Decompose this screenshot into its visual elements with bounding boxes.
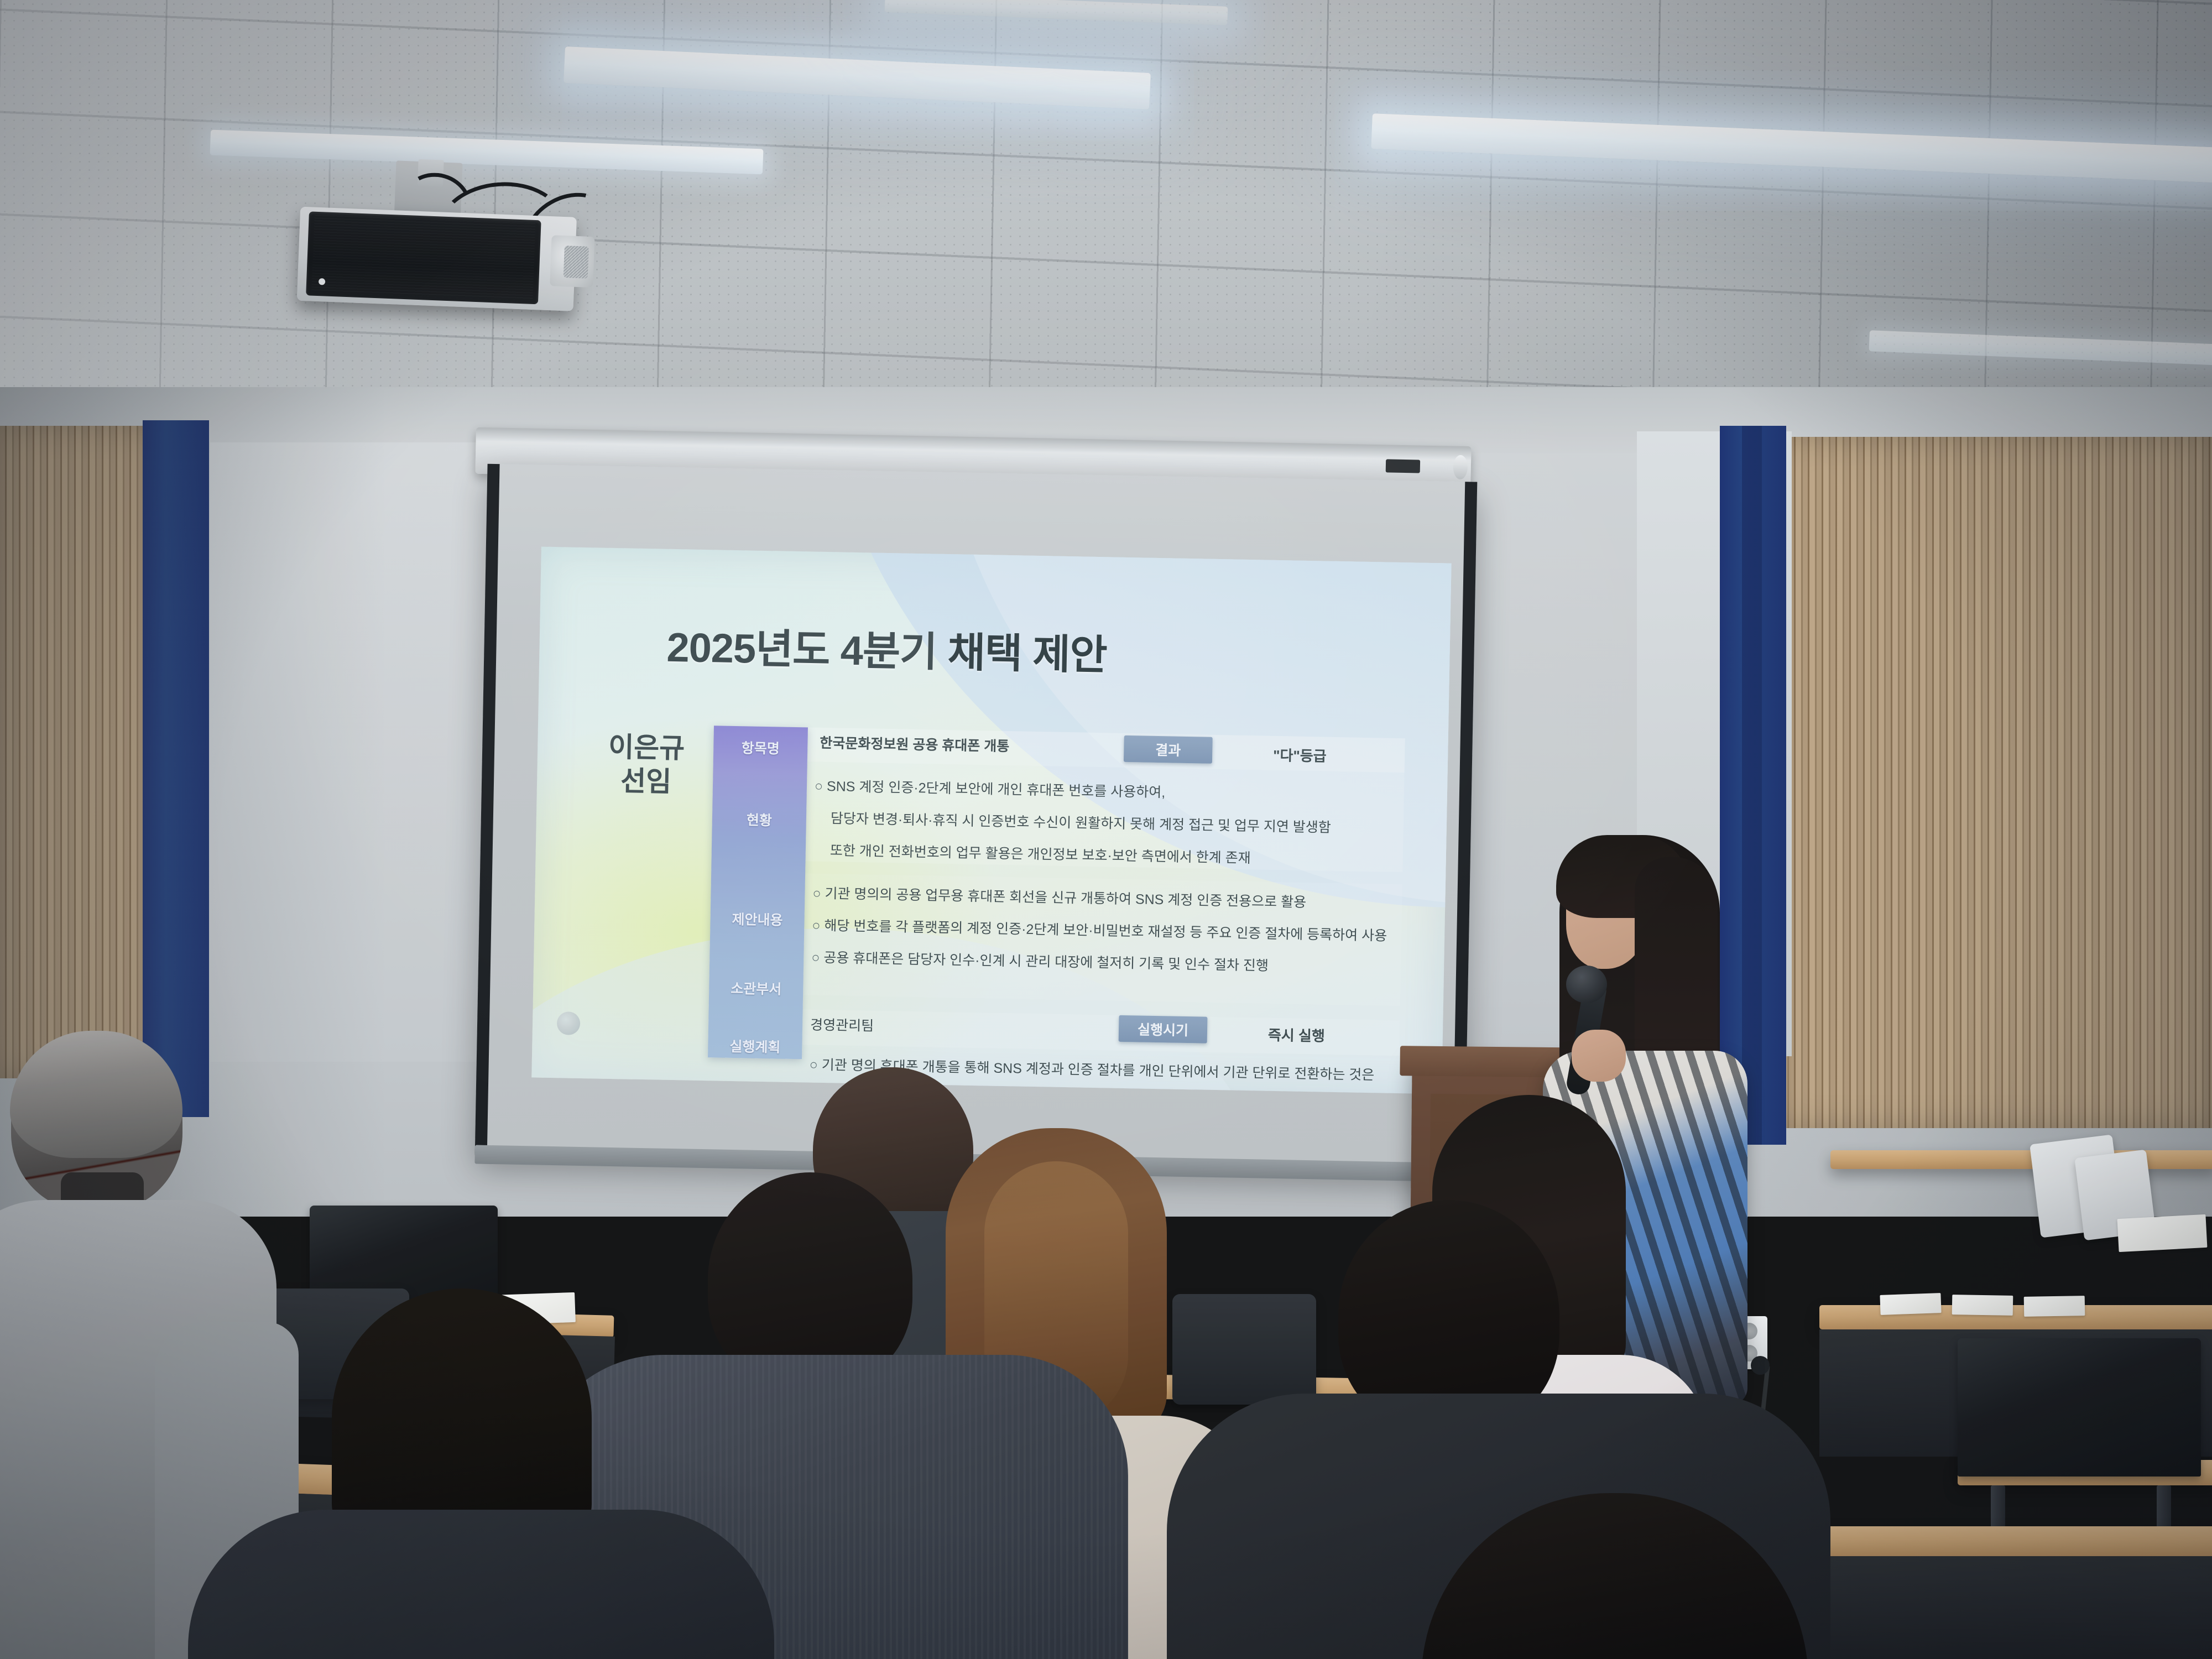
head <box>332 1288 592 1537</box>
hair <box>10 1031 182 1158</box>
proposal-title: 한국문화정보원 공용 휴대폰 개통 <box>820 734 1009 756</box>
row-label-department: 소관부서 <box>709 977 804 999</box>
paper-sheet <box>1880 1293 1941 1315</box>
slide-title-prefix: 2025년도 4분기 <box>666 624 948 675</box>
presentation-slide: 2025년도 4분기 채택 제안 이은규 선임 항목명 현황 제안내용 소관부서… <box>531 547 1451 1094</box>
department-value: 경영관리팀 <box>810 1016 874 1036</box>
head <box>1421 1493 1808 1659</box>
result-value: "다"등급 <box>1273 744 1327 766</box>
row-label-item-name: 항목명 <box>713 737 808 758</box>
presenter-name-line2: 선임 <box>577 764 716 800</box>
paper-sheet <box>2117 1214 2208 1252</box>
slide-label-column: 항목명 현황 제안내용 소관부서 실행계획 <box>708 726 808 1059</box>
ceiling-projector <box>295 160 601 354</box>
result-badge: 결과 <box>1124 735 1213 764</box>
timing-value: 즉시 실행 <box>1268 1024 1326 1046</box>
presenter-name-block: 이은규 선임 <box>577 730 716 800</box>
desk <box>1819 1305 2212 1329</box>
wall-shadow-right <box>1714 387 2212 1217</box>
desk <box>1830 1150 2212 1169</box>
projection-screen[interactable]: 2025년도 4분기 채택 제안 이은규 선임 항목명 현황 제안내용 소관부서… <box>475 464 1478 1173</box>
projector-vent-icon <box>564 246 589 279</box>
row-label-proposal: 제안내용 <box>710 908 805 930</box>
audience-member-front-left <box>265 1288 653 1659</box>
slide-title: 2025년도 4분기 채택 제안 <box>666 614 1108 682</box>
presenter-hand-holding-mic <box>1572 1030 1626 1082</box>
screen-brand-badge <box>1386 459 1420 473</box>
conference-room-scene: 2025년도 4분기 채택 제안 이은규 선임 항목명 현황 제안내용 소관부서… <box>0 0 2212 1659</box>
audience-member-front-row <box>1421 1493 1830 1659</box>
presenter-name-line1: 이은규 <box>577 730 716 766</box>
laptop-screen[interactable] <box>1958 1338 2201 1477</box>
row-label-status: 현황 <box>712 808 807 830</box>
projector-front-panel <box>306 211 541 304</box>
timing-badge: 실행시기 <box>1119 1015 1208 1044</box>
paper-sheet <box>1952 1295 2013 1316</box>
microphone-head-icon <box>1566 966 1607 1003</box>
screen-roller-endcap <box>1453 455 1468 479</box>
slide-title-accent: 채택 제안 <box>947 629 1107 678</box>
torso <box>188 1510 774 1659</box>
projector-grille <box>311 215 535 301</box>
paper-sheet <box>2024 1296 2085 1317</box>
row-label-plan: 실행계획 <box>708 1035 802 1057</box>
